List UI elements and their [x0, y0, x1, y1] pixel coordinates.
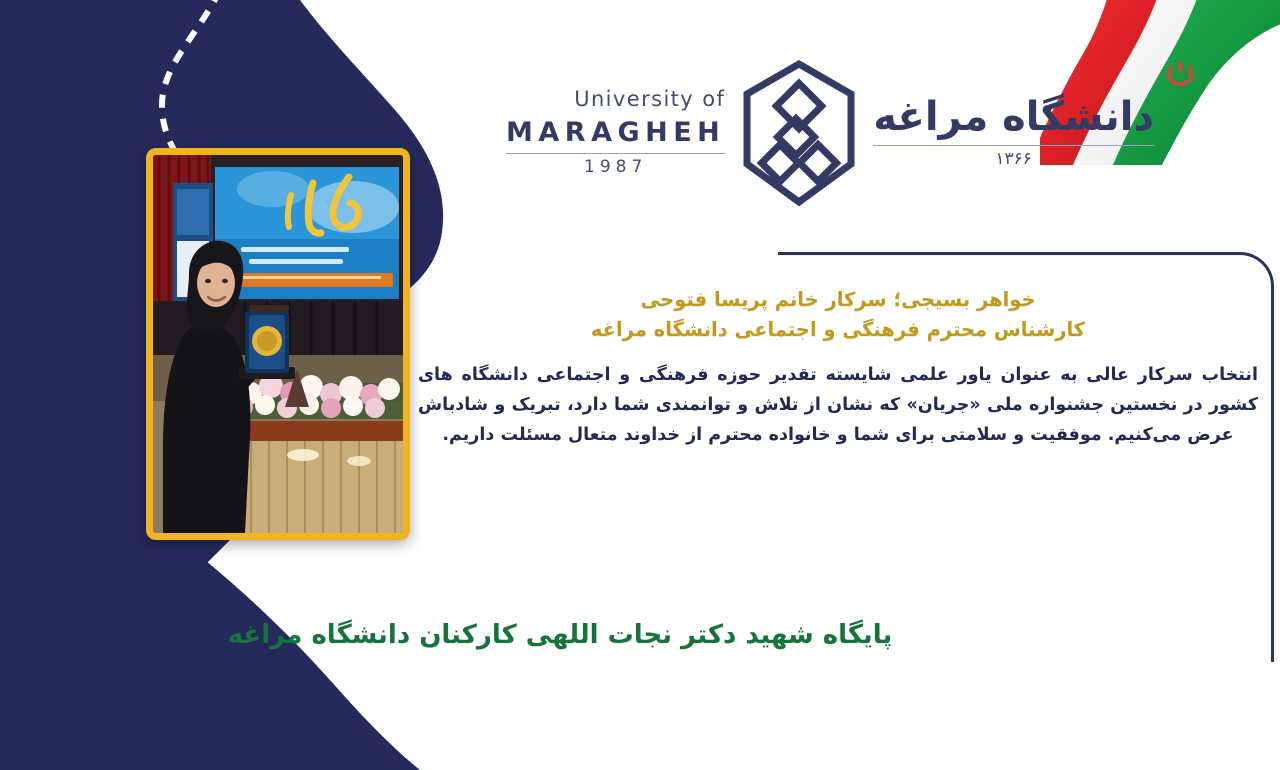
logo-year-fa: ۱۳۶۶	[873, 151, 1154, 168]
university-logo: University of MARAGHEH 1987 دانشگاه مراغ…	[575, 45, 1085, 220]
message-heading-line-1: خواهر بسیجی؛ سرکار خانم پریسا فتوحی	[418, 285, 1258, 315]
logo-rule-fa	[873, 145, 1154, 146]
congratulation-poster: University of MARAGHEH 1987 دانشگاه مراغ…	[0, 0, 1280, 770]
logo-line-university-of: University of	[506, 89, 725, 110]
award-photo-image	[153, 155, 403, 533]
message-block: خواهر بسیجی؛ سرکار خانم پریسا فتوحی کارش…	[418, 285, 1258, 451]
message-heading-line-2: کارشناس محترم فرهنگی و اجتماعی دانشگاه م…	[418, 315, 1258, 345]
logo-rule-en	[506, 153, 725, 154]
logo-year-en: 1987	[506, 159, 725, 176]
award-photo	[146, 148, 410, 540]
message-body-text: انتخاب سرکار عالی به عنوان یاور علمی شای…	[418, 361, 1258, 450]
university-logo-english: University of MARAGHEH 1987	[506, 89, 739, 176]
message-body: انتخاب سرکار عالی به عنوان یاور علمی شای…	[418, 361, 1258, 450]
logo-line-maragheh: MARAGHEH	[506, 119, 725, 146]
maragheh-hexagon-emblem-icon	[739, 58, 859, 208]
university-logo-farsi: دانشگاه مراغه ۱۳۶۶	[859, 97, 1154, 168]
message-heading: خواهر بسیجی؛ سرکار خانم پریسا فتوحی کارش…	[418, 285, 1258, 344]
footer-organization: پایگاه شهید دکتر نجات اللهی کارکنان دانش…	[0, 620, 1280, 650]
logo-line-daneshgah-maragheh: دانشگاه مراغه	[873, 97, 1154, 137]
